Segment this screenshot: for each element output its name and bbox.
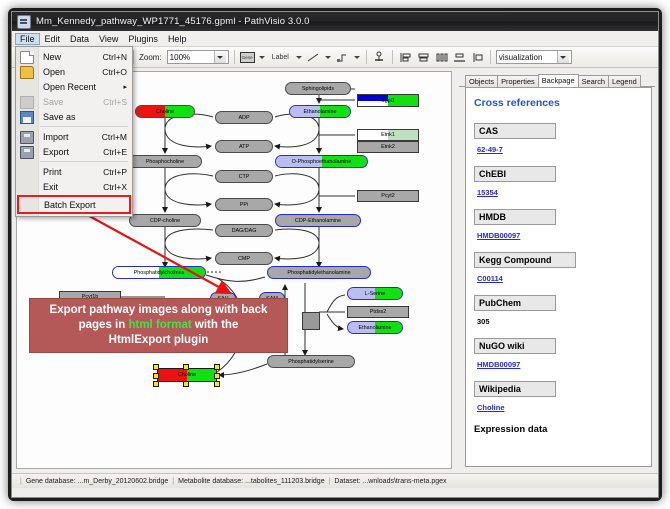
xref-link[interactable]: C00114 bbox=[474, 274, 503, 283]
xref-name: HMDB bbox=[474, 209, 556, 225]
xref-link[interactable]: 62-49-7 bbox=[474, 145, 503, 154]
xref-hmdb: HMDB HMDB00097 bbox=[474, 209, 643, 243]
anchor-tool-button[interactable] bbox=[372, 50, 387, 65]
distribute-button[interactable] bbox=[434, 50, 449, 65]
status-dataset-value: ...wnloads\trans-meta.pgex bbox=[362, 478, 446, 485]
menu-item-accelerator: Ctrl+E bbox=[103, 147, 132, 157]
align-center-button[interactable] bbox=[416, 50, 431, 65]
status-bar: | Gene database: ...m_Derby_20120602.bri… bbox=[12, 473, 658, 488]
menu-item-label: Open Recent bbox=[38, 82, 123, 92]
panel-tabstrip: Objects Properties Backpage Search Legen… bbox=[459, 72, 655, 87]
xref-pubchem: PubChem 305 bbox=[474, 295, 643, 329]
tab-legend[interactable]: Legend bbox=[608, 75, 641, 87]
status-metabolite-database-label: Metabolite database: bbox=[178, 478, 243, 485]
callout-highlight: html format bbox=[128, 319, 191, 331]
node-dag[interactable]: DAG/DAG bbox=[215, 224, 273, 237]
node-label: Phosphatidylserine bbox=[288, 359, 334, 365]
node-label: Choline bbox=[156, 109, 174, 115]
xref-link[interactable]: 15354 bbox=[474, 188, 498, 197]
export-icon bbox=[20, 146, 34, 159]
stack-button[interactable] bbox=[452, 50, 467, 65]
group-box[interactable] bbox=[302, 312, 320, 330]
expression-data-heading: Expression data bbox=[474, 424, 643, 435]
node-label: Phosphatidylcholines bbox=[134, 270, 185, 276]
xref-name: PubChem bbox=[474, 295, 556, 311]
gene-pcyt2[interactable]: Pcyt2 bbox=[357, 190, 419, 202]
menu-item-batch-export[interactable]: Batch Export bbox=[17, 195, 131, 214]
annotation-callout-text: Export pathway images along with back pa… bbox=[50, 303, 268, 348]
menu-item-label: Import bbox=[38, 132, 102, 142]
zoom-value: 100% bbox=[170, 53, 214, 62]
gene-shape-button[interactable]: Gene bbox=[240, 50, 255, 65]
gene-label: Sgpl1 bbox=[381, 98, 395, 104]
node-ppi[interactable]: PPi bbox=[215, 198, 273, 211]
node-label: L-Serine bbox=[365, 291, 385, 297]
node-label: O-Phosphoethanolamine bbox=[292, 159, 352, 165]
menu-item-accelerator: Ctrl+M bbox=[102, 132, 132, 142]
node-label: CMP bbox=[238, 256, 250, 262]
node-label: Ethanolamine bbox=[304, 109, 337, 115]
gene-label: Ptdss2 bbox=[370, 309, 386, 315]
align-left-icon bbox=[399, 52, 412, 63]
menu-item-label: Save bbox=[38, 97, 103, 107]
tab-properties[interactable]: Properties bbox=[497, 75, 539, 87]
interaction-dropdown-icon[interactable] bbox=[353, 50, 361, 64]
stack-icon bbox=[453, 52, 466, 63]
menu-item-new[interactable]: New Ctrl+N bbox=[16, 49, 132, 64]
status-divider: | bbox=[329, 478, 331, 485]
node-phosphatidylethanolamine[interactable]: Phosphatidylethanolamine bbox=[267, 266, 371, 279]
node-phosphatidylcholines[interactable]: Phosphatidylcholines bbox=[112, 266, 206, 279]
toolbar-separator bbox=[392, 50, 393, 64]
node-label: DAG/DAG bbox=[232, 228, 257, 234]
node-label: ATP bbox=[239, 144, 249, 150]
menu-item-label: Export bbox=[38, 147, 103, 157]
xref-wikipedia: Wikipedia Choline bbox=[474, 381, 643, 415]
node-choline-selected[interactable]: Choline bbox=[157, 368, 217, 382]
callout-line2-b: with the bbox=[192, 319, 239, 331]
gene-ptdss2[interactable]: Ptdss2 bbox=[347, 306, 409, 318]
status-divider: | bbox=[172, 478, 174, 485]
group-icon bbox=[471, 52, 484, 63]
menu-plugins[interactable]: Plugins bbox=[123, 33, 163, 45]
status-metabolite-database-value: ...tabolites_111203.bridge bbox=[245, 478, 325, 485]
menu-file[interactable]: File bbox=[15, 33, 40, 45]
xref-chebi: ChEBI 15354 bbox=[474, 166, 643, 200]
menu-bar: File Edit Data View Plugins Help bbox=[12, 31, 658, 47]
xref-value: 305 bbox=[474, 317, 490, 326]
xref-name: Kegg Compound bbox=[474, 252, 576, 268]
node-l-serine[interactable]: L-Serine bbox=[347, 287, 403, 300]
node-phosphocholine[interactable]: Phosphocholine bbox=[128, 155, 202, 168]
chevron-down-icon[interactable] bbox=[557, 51, 569, 63]
xref-name: NuGO wiki bbox=[474, 338, 556, 354]
node-cmp[interactable]: CMP bbox=[215, 252, 273, 265]
node-label: Sphingolipids bbox=[302, 86, 334, 92]
node-label: Phosphatidylethanolamine bbox=[287, 270, 350, 276]
menu-item-label: New bbox=[38, 52, 103, 62]
menu-item-export[interactable]: Export Ctrl+E bbox=[16, 144, 132, 159]
tab-objects[interactable]: Objects bbox=[465, 75, 498, 87]
cross-references-heading: Cross references bbox=[474, 97, 643, 109]
gene-shape-icon: Gene bbox=[240, 52, 255, 63]
visualization-value: visualization bbox=[499, 53, 557, 62]
label-tool-button[interactable]: Label bbox=[269, 52, 292, 63]
menu-item-accelerator: Ctrl+S bbox=[103, 97, 132, 107]
side-panel: Objects Properties Backpage Search Legen… bbox=[458, 68, 658, 473]
title-bar: Mm_Kennedy_pathway_WP1771_45176.gpml - P… bbox=[12, 12, 658, 31]
chevron-down-icon[interactable] bbox=[214, 51, 226, 63]
line-icon bbox=[307, 52, 320, 63]
menu-item-label: Open bbox=[38, 67, 102, 77]
toolbar-separator bbox=[234, 50, 235, 64]
menu-item-save: Save Ctrl+S bbox=[16, 94, 132, 109]
group-button[interactable] bbox=[470, 50, 485, 65]
window-inner: Mm_Kennedy_pathway_WP1771_45176.gpml - P… bbox=[11, 11, 659, 498]
xref-nugo-wiki: NuGO wiki HMDB00097 bbox=[474, 338, 643, 372]
save-disk-icon bbox=[20, 96, 34, 109]
menu-item-accelerator: Ctrl+N bbox=[103, 52, 132, 62]
align-left-button[interactable] bbox=[398, 50, 413, 65]
node-label: Ethanolamine bbox=[359, 325, 392, 331]
toolbar-separator bbox=[366, 50, 367, 64]
interaction-tool-button[interactable] bbox=[335, 50, 350, 65]
node-sphingolipids[interactable]: Sphingolipids bbox=[285, 82, 351, 95]
node-label: CDP-Ethanolamine bbox=[295, 218, 341, 224]
xref-cas: CAS 62-49-7 bbox=[474, 123, 643, 157]
menu-item-label: Batch Export bbox=[39, 200, 129, 210]
xref-link[interactable]: Choline bbox=[474, 403, 505, 412]
node-choline[interactable]: Choline bbox=[135, 105, 195, 118]
node-label: CDP-choline bbox=[150, 218, 180, 224]
interaction-icon bbox=[336, 52, 349, 63]
status-dataset-label: Dataset: bbox=[334, 478, 360, 485]
node-ethanolamine[interactable]: Ethanolamine bbox=[289, 105, 351, 118]
node-cdp-choline[interactable]: CDP-choline bbox=[129, 214, 201, 227]
node-label: Choline bbox=[178, 372, 196, 378]
node-atp[interactable]: ATP bbox=[215, 140, 273, 153]
xref-kegg-compound: Kegg Compound C00114 bbox=[474, 252, 643, 286]
menu-item-open[interactable]: Open Ctrl+O bbox=[16, 64, 132, 79]
align-center-icon bbox=[417, 52, 430, 63]
annotation-callout: Export pathway images along with back pa… bbox=[29, 298, 288, 353]
line-tool-button[interactable] bbox=[306, 50, 321, 65]
node-label: PPi bbox=[240, 202, 248, 208]
menu-item-save-as[interactable]: Save as bbox=[16, 109, 132, 124]
save-as-icon bbox=[20, 111, 34, 124]
zoom-combobox[interactable]: 100% bbox=[167, 50, 229, 64]
application-window: Mm_Kennedy_pathway_WP1771_45176.gpml - P… bbox=[8, 8, 662, 501]
callout-line1: Export pathway images along with back bbox=[50, 304, 268, 316]
gene-label: Etnk2 bbox=[381, 144, 395, 150]
callout-line2-a: pages in bbox=[79, 319, 129, 331]
status-gene-database-value: ...m_Derby_20120602.bridge bbox=[78, 478, 169, 485]
menu-help[interactable]: Help bbox=[163, 33, 192, 45]
node-ethanolamine-2[interactable]: Ethanolamine bbox=[347, 321, 403, 334]
xref-link[interactable]: HMDB00097 bbox=[474, 231, 520, 240]
menu-view[interactable]: View bbox=[94, 33, 123, 45]
visualization-combobox[interactable]: visualization bbox=[496, 50, 572, 64]
pathvisio-app-icon bbox=[17, 15, 31, 29]
callout-line3: HtmlExport plugin bbox=[109, 334, 209, 346]
gene-etnk2[interactable]: Etnk2 bbox=[357, 141, 419, 153]
menu-item-label: Save as bbox=[38, 112, 127, 122]
node-label: Phosphocholine bbox=[146, 159, 184, 165]
gene-label: Pcyt2 bbox=[381, 193, 394, 199]
node-phosphatidylserine[interactable]: Phosphatidylserine bbox=[267, 355, 355, 368]
status-gene-database-label: Gene database: bbox=[26, 478, 76, 485]
zoom-label: Zoom: bbox=[139, 53, 162, 62]
node-ctp[interactable]: CTP bbox=[215, 170, 273, 183]
menu-edit[interactable]: Edit bbox=[40, 33, 66, 45]
gene-shape-dropdown-icon[interactable] bbox=[258, 50, 266, 64]
menu-item-open-recent[interactable]: Open Recent ▸ bbox=[16, 79, 132, 94]
line-dropdown-icon[interactable] bbox=[324, 50, 332, 64]
gene-label: Etnk1 bbox=[381, 132, 395, 138]
window-title: Mm_Kennedy_pathway_WP1771_45176.gpml - P… bbox=[36, 16, 310, 27]
tab-search[interactable]: Search bbox=[578, 75, 609, 87]
xref-name: ChEBI bbox=[474, 166, 556, 182]
toolbar-separator bbox=[133, 50, 134, 64]
backpage-content[interactable]: Cross references CAS 62-49-7 ChEBI 15354… bbox=[465, 87, 652, 467]
new-document-icon bbox=[20, 51, 34, 64]
gene-etnk1[interactable]: Etnk1 bbox=[357, 129, 419, 141]
status-divider: | bbox=[20, 478, 22, 485]
distribute-icon bbox=[435, 52, 448, 63]
node-adp[interactable]: ADP bbox=[215, 111, 273, 124]
import-icon bbox=[20, 131, 34, 144]
menu-data[interactable]: Data bbox=[65, 33, 94, 45]
menu-item-label: Exit bbox=[38, 182, 103, 192]
file-menu-dropdown[interactable]: New Ctrl+N Open Ctrl+O Open Recent ▸ Sav… bbox=[15, 46, 133, 217]
menu-item-exit[interactable]: Exit Ctrl+X bbox=[16, 179, 132, 194]
xref-name: Wikipedia bbox=[474, 381, 556, 397]
node-cdp-ethanolamine[interactable]: CDP-Ethanolamine bbox=[275, 214, 361, 227]
toolbar-separator bbox=[490, 50, 491, 64]
node-o-phosphoethanolamine[interactable]: O-Phosphoethanolamine bbox=[275, 155, 368, 168]
tab-backpage[interactable]: Backpage bbox=[538, 74, 579, 87]
chevron-right-icon: ▸ bbox=[123, 83, 132, 91]
menu-separator bbox=[40, 126, 128, 127]
label-dropdown-icon[interactable] bbox=[295, 50, 303, 64]
xref-link[interactable]: HMDB00097 bbox=[474, 360, 520, 369]
menu-item-accelerator: Ctrl+O bbox=[102, 67, 132, 77]
menu-item-import[interactable]: Import Ctrl+M bbox=[16, 129, 132, 144]
anchor-icon bbox=[373, 51, 385, 63]
xref-name: CAS bbox=[474, 123, 556, 139]
open-folder-icon bbox=[20, 66, 34, 79]
node-label: ADP bbox=[238, 115, 249, 121]
menu-item-print[interactable]: Print Ctrl+P bbox=[16, 164, 132, 179]
menu-item-accelerator: Ctrl+X bbox=[103, 182, 132, 192]
node-label: CTP bbox=[239, 174, 250, 180]
menu-item-accelerator: Ctrl+P bbox=[103, 167, 132, 177]
gene-sgpl1[interactable]: Sgpl1 bbox=[357, 94, 419, 107]
menu-separator bbox=[40, 161, 128, 162]
menu-item-label: Print bbox=[38, 167, 103, 177]
